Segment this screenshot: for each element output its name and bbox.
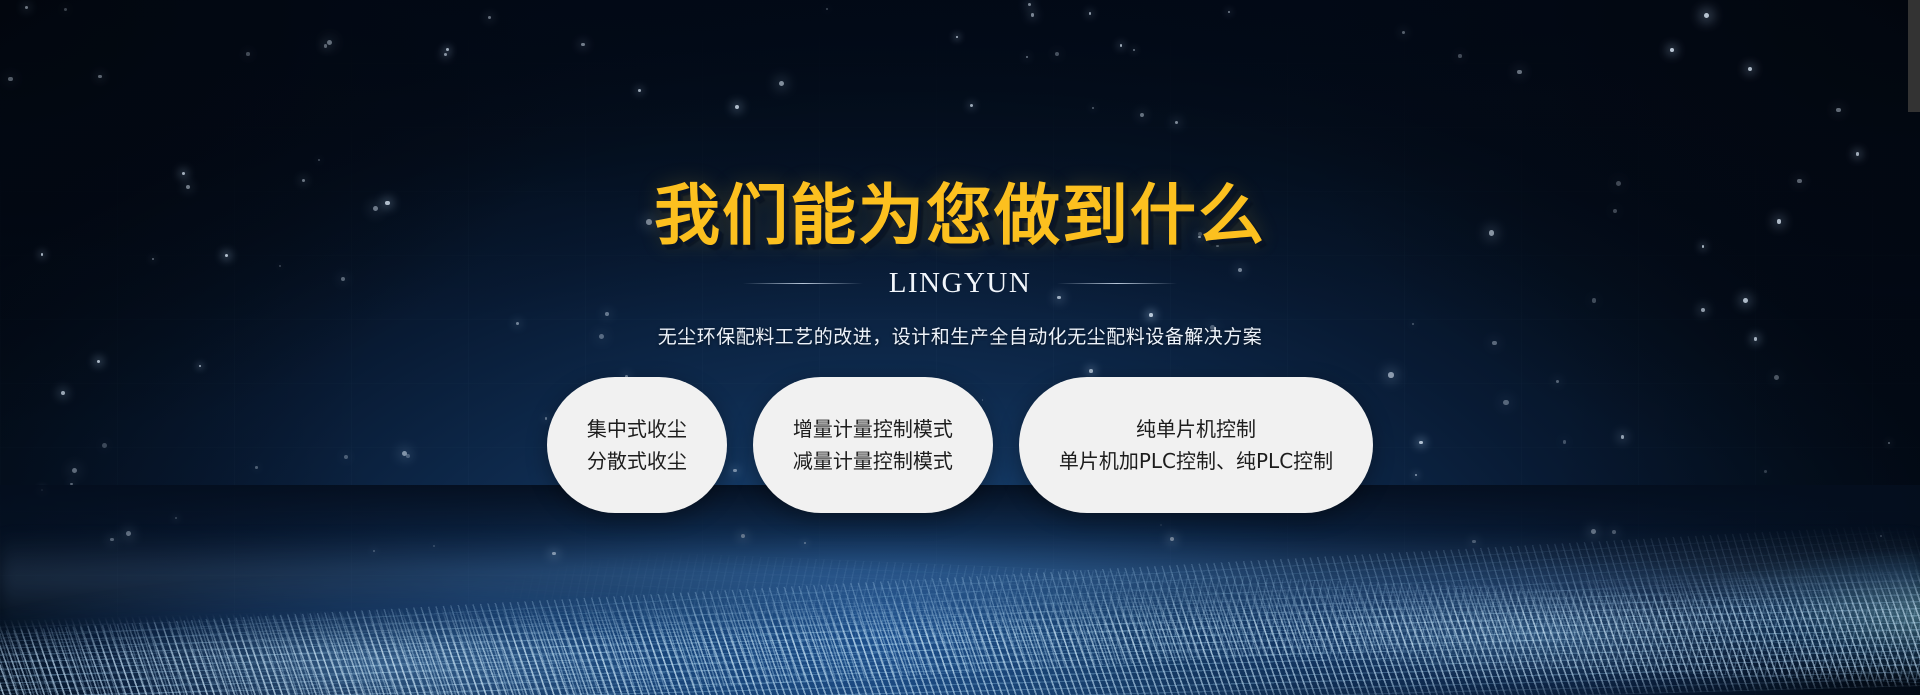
- divider-line-left: [743, 283, 863, 284]
- feature-card-line-1: 纯单片机控制: [1136, 418, 1256, 440]
- feature-card-line-2: 单片机加PLC控制、纯PLC控制: [1059, 450, 1333, 472]
- divider-line-right: [1057, 283, 1177, 284]
- subtitle-row: LINGYUN: [743, 267, 1178, 300]
- feature-card-list: 集中式收尘 分散式收尘 增量计量控制模式 减量计量控制模式 纯单片机控制 单片机…: [547, 377, 1373, 513]
- banner-content: 我们能为您做到什么 LINGYUN 无尘环保配料工艺的改进，设计和生产全自动化无…: [0, 0, 1920, 695]
- right-edge-strip: [1908, 0, 1920, 112]
- feature-card-control-system[interactable]: 纯单片机控制 单片机加PLC控制、纯PLC控制: [1019, 377, 1373, 513]
- hero-banner: 我们能为您做到什么 LINGYUN 无尘环保配料工艺的改进，设计和生产全自动化无…: [0, 0, 1920, 695]
- feature-card-line-1: 集中式收尘: [587, 418, 687, 440]
- feature-card-metering-mode[interactable]: 增量计量控制模式 减量计量控制模式: [753, 377, 993, 513]
- feature-card-line-2: 分散式收尘: [587, 450, 687, 472]
- banner-description: 无尘环保配料工艺的改进，设计和生产全自动化无尘配料设备解决方案: [658, 322, 1263, 349]
- banner-subtitle-en: LINGYUN: [889, 267, 1032, 300]
- feature-card-dust-collection[interactable]: 集中式收尘 分散式收尘: [547, 377, 727, 513]
- banner-headline: 我们能为您做到什么: [654, 183, 1266, 249]
- feature-card-line-1: 增量计量控制模式: [793, 418, 953, 440]
- feature-card-line-2: 减量计量控制模式: [793, 450, 953, 472]
